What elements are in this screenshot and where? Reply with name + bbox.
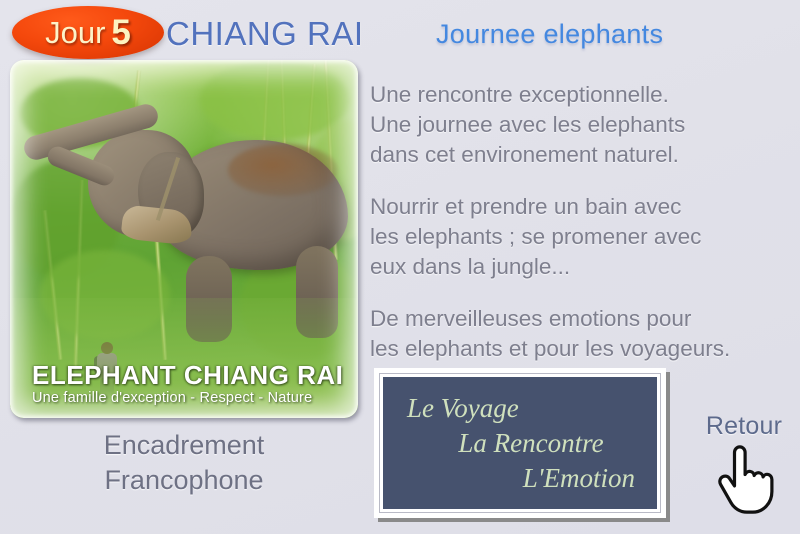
back-button[interactable]: Retour (696, 412, 792, 522)
paragraph: Une rencontre exceptionnelle. Une journe… (370, 80, 794, 170)
elephant-photo: ELEPHANT CHIANG RAI Une famille d'except… (10, 60, 358, 418)
photo-card: ELEPHANT CHIANG RAI Une famille d'except… (10, 60, 358, 418)
pointing-hand-cursor-icon (706, 442, 782, 523)
back-button-label: Retour (696, 412, 792, 441)
photo-caption: ELEPHANT CHIANG RAI Une famille d'except… (10, 362, 358, 406)
motto-panel: Le Voyage La Rencontre L'Emotion (374, 368, 666, 518)
photo-sub-caption: Encadrement Francophone (10, 428, 358, 498)
motto-line: Le Voyage (401, 391, 639, 426)
destination-heading: CHIANG RAI (166, 15, 364, 53)
motto-panel-field: Le Voyage La Rencontre L'Emotion (383, 377, 657, 509)
photo-caption-title: ELEPHANT CHIANG RAI (32, 362, 358, 389)
day-badge-content: Jour 5 (12, 6, 164, 59)
elephant-trunk (22, 112, 162, 204)
motto-line: La Rencontre (401, 426, 639, 461)
description-text: Une rencontre exceptionnelle. Une journe… (370, 80, 794, 364)
photo-caption-subtitle: Une famille d'exception - Respect - Natu… (32, 390, 358, 406)
day-badge: Jour 5 (12, 6, 164, 59)
motto-panel-border: Le Voyage La Rencontre L'Emotion (379, 373, 661, 513)
paragraph: De merveilleuses emotions pour les eleph… (370, 304, 794, 364)
section-title: Journee elephants (436, 19, 663, 50)
day-badge-word: Jour (45, 15, 105, 51)
slide-root: Jour 5 CHIANG RAI Journee elephants (0, 0, 800, 534)
elephant-back-patch (228, 144, 338, 196)
paragraph: Nourrir et prendre un bain avec les elep… (370, 192, 794, 282)
day-badge-number: 5 (111, 13, 130, 53)
motto-line: L'Emotion (401, 461, 639, 496)
